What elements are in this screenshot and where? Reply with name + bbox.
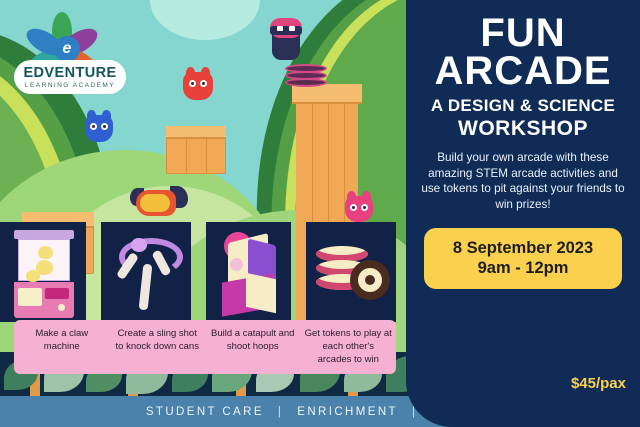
spring-coil-icon <box>285 64 327 88</box>
arcade-activity-panels <box>0 222 400 322</box>
logo-wordmark: EDVENTURE LEARNING ACADEMY <box>14 60 126 94</box>
title-line-2: ARCADE <box>434 49 611 93</box>
monster-pupil <box>363 206 366 209</box>
slingshot-icon <box>117 234 175 312</box>
subtitle-line-2: WORKSHOP <box>406 117 640 140</box>
monster-pupil <box>202 82 205 85</box>
activity-caption-2: Create a sling shot to knock down cans <box>110 320 206 374</box>
crate-plank-line <box>186 137 187 174</box>
claw-machine-icon <box>14 230 74 318</box>
price-label: $45/pax <box>571 375 626 392</box>
activity-caption-4: Get tokens to play at each other's arcad… <box>301 320 397 374</box>
activity-panel-hoops <box>206 222 291 322</box>
claw-machine-screen <box>45 288 69 299</box>
monster-ear <box>186 67 195 78</box>
poster: Make a claw machine Create a sling shot … <box>0 0 640 427</box>
red-monster-icon <box>183 72 213 100</box>
hoops-cabinet-side <box>246 273 276 313</box>
ring-token-hole <box>365 275 375 285</box>
logo[interactable]: e EDVENTURE LEARNING ACADEMY <box>14 6 126 104</box>
crate-upper-left <box>166 126 226 174</box>
banner-item-enrichment: ENRICHMENT <box>297 406 398 418</box>
pink-monster-icon <box>345 196 373 222</box>
ninja-eye <box>277 26 283 31</box>
banner-item-student-care: STUDENT CARE <box>146 406 264 418</box>
ninja-mask <box>270 26 302 35</box>
activity-panel-tokens <box>306 222 396 322</box>
slingshot-pouch <box>131 238 147 252</box>
monster-pupil <box>352 206 355 209</box>
logo-monogram: e <box>54 36 80 62</box>
monster-ear <box>201 67 210 78</box>
date-time-badge: 8 September 2023 9am - 12pm <box>424 228 622 289</box>
monster-ear <box>362 191 371 202</box>
ring-token-icon <box>350 260 390 300</box>
fox-character-icon <box>130 184 186 218</box>
basketball-arcade-icon <box>218 230 282 316</box>
logo-tagline: LEARNING ACADEMY <box>25 82 115 89</box>
basketball <box>230 258 243 271</box>
banner-separator: | <box>278 406 283 418</box>
ninja-character-icon <box>268 10 304 62</box>
crate-lid <box>166 126 226 139</box>
claw-machine-top <box>14 230 74 239</box>
subtitle-line-1: A DESIGN & SCIENCE <box>406 96 640 116</box>
monster-pupil <box>103 125 106 128</box>
activity-caption-3: Build a catapult and shoot hoops <box>205 320 301 374</box>
activity-panel-slingshot <box>101 222 191 322</box>
claw-machine-knob <box>58 304 65 311</box>
monster-ear <box>102 110 111 121</box>
description-text: Build your own arcade with these amazing… <box>418 150 628 212</box>
monster-ear <box>347 191 356 202</box>
coil-ring <box>285 78 327 87</box>
logo-name: EDVENTURE <box>23 66 116 81</box>
plush-toy <box>26 270 40 282</box>
claw-machine-door <box>18 288 42 306</box>
activity-captions: Make a claw machine Create a sling shot … <box>14 320 396 374</box>
event-date: 8 September 2023 <box>430 238 616 258</box>
ninja-eye <box>289 26 295 31</box>
page-title: FUN ARCADE <box>406 0 640 90</box>
plush-toy <box>38 246 53 259</box>
fox-belly <box>140 194 170 212</box>
monster-pupil <box>92 125 95 128</box>
monster-ear <box>87 110 96 121</box>
crate-plank-line <box>206 137 207 174</box>
info-panel: FUN ARCADE A DESIGN & SCIENCE WORKSHOP B… <box>406 0 640 427</box>
monster-pupil <box>191 82 194 85</box>
activity-panel-claw-machine <box>0 222 86 322</box>
event-time: 9am - 12pm <box>430 258 616 278</box>
activity-caption-1: Make a claw machine <box>14 320 110 374</box>
blue-monster-icon <box>85 115 113 142</box>
